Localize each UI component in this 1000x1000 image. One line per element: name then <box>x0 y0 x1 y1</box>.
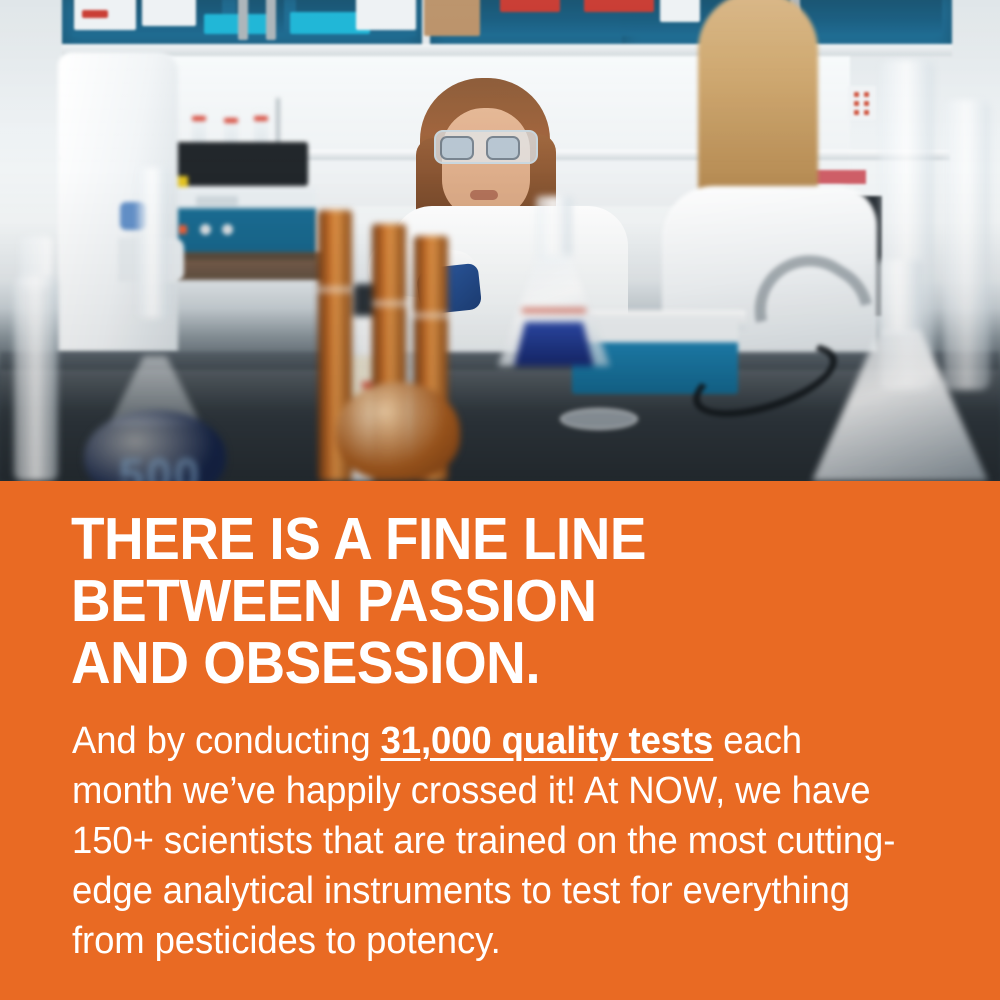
analyzer-indicator-light <box>178 225 187 234</box>
cabinet-reagent <box>204 14 268 34</box>
cabinet-red-tray <box>584 0 654 12</box>
analyzer-knob <box>222 224 233 235</box>
flask-graduation-band <box>522 308 586 313</box>
body-lead: And by conducting <box>72 720 381 762</box>
flask-neck <box>536 196 572 258</box>
promo-card: 500 THERE IS A FINE LINE BETWEEN PASSION… <box>0 0 1000 1000</box>
flask-neck <box>876 260 922 334</box>
cabinet-divider <box>266 0 276 40</box>
sample-tube-cap <box>224 118 238 123</box>
flask-volume-label: 500 <box>112 448 208 481</box>
cabinet-red-tray <box>500 0 560 12</box>
petri-dish <box>560 408 638 430</box>
volumetric-flask-500: 500 <box>60 300 250 481</box>
lab-photo: 500 <box>0 0 1000 481</box>
flask-neck <box>138 168 168 318</box>
erlenmeyer-flask-blue <box>498 196 610 366</box>
mouth <box>470 190 498 200</box>
sample-tube-cap <box>254 116 268 121</box>
amber-column-ring <box>318 286 352 293</box>
cylinder-body <box>14 276 58 481</box>
amber-column-ring <box>414 312 448 319</box>
eyeglass-lens-left <box>440 136 474 160</box>
analyzer-display <box>196 196 238 206</box>
erlenmeyer-flask-right <box>812 286 988 481</box>
graduated-cylinder-left <box>6 236 68 481</box>
page-title: THERE IS A FINE LINE BETWEEN PASSION AND… <box>71 508 880 694</box>
body-copy: And by conducting 31,000 quality tests e… <box>72 716 898 966</box>
cabinet-divider <box>238 0 248 40</box>
analyzer-knob <box>200 224 211 235</box>
cabinet-box-label <box>82 10 108 18</box>
flask-cone <box>812 330 988 481</box>
cabinet-box <box>142 0 196 26</box>
eyeglass-lens-right <box>486 136 520 160</box>
amber-flask-bulb <box>336 382 460 481</box>
amber-column-ring <box>372 300 406 307</box>
blue-liquid <box>514 322 594 366</box>
cabinet-box <box>356 0 416 30</box>
stat-highlight: 31,000 quality tests <box>381 720 714 762</box>
cabinet-carton <box>424 0 480 36</box>
sample-tube-cap <box>192 116 206 121</box>
